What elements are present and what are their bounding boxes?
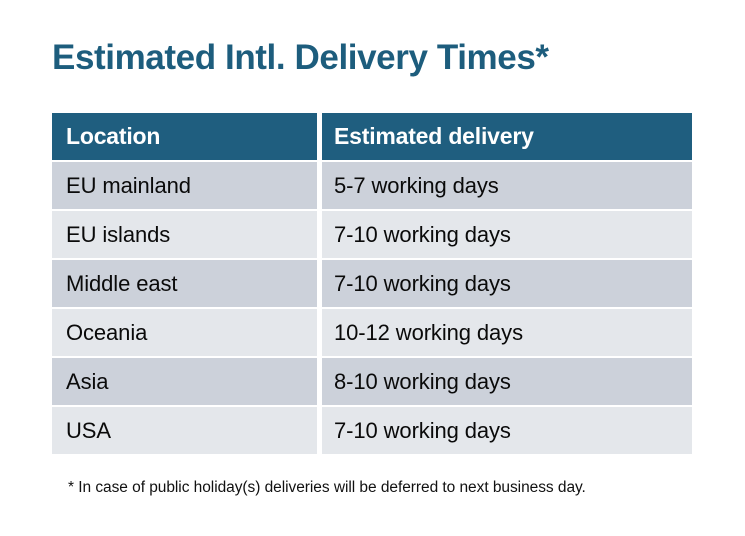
location-value: USA: [66, 418, 111, 444]
table-cell-location: Middle east: [52, 260, 317, 307]
table-cell-location: EU mainland: [52, 162, 317, 209]
footnote-text: * In case of public holiday(s) deliverie…: [68, 479, 586, 497]
table-cell-location: Oceania: [52, 309, 317, 356]
delivery-value: 8-10 working days: [334, 369, 511, 395]
table-cell-delivery: 5-7 working days: [322, 162, 692, 209]
table-row: EU mainland 5-7 working days: [52, 162, 692, 209]
column-header-label-delivery: Estimated delivery: [334, 123, 534, 150]
delivery-times-table: Location Estimated delivery EU mainland …: [52, 113, 692, 456]
table-row: Oceania 10-12 working days: [52, 309, 692, 356]
table-cell-location: EU islands: [52, 211, 317, 258]
location-value: EU islands: [66, 222, 170, 248]
delivery-value: 5-7 working days: [334, 173, 499, 199]
table-cell-delivery: 7-10 working days: [322, 211, 692, 258]
table-header-cell-delivery: Estimated delivery: [322, 113, 692, 160]
table-cell-location: Asia: [52, 358, 317, 405]
table-cell-delivery: 8-10 working days: [322, 358, 692, 405]
table-cell-delivery: 7-10 working days: [322, 407, 692, 454]
table-row: Middle east 7-10 working days: [52, 260, 692, 307]
location-value: EU mainland: [66, 173, 191, 199]
table-row: EU islands 7-10 working days: [52, 211, 692, 258]
table-row: Asia 8-10 working days: [52, 358, 692, 405]
table-header-row: Location Estimated delivery: [52, 113, 692, 160]
location-value: Middle east: [66, 271, 177, 297]
table-cell-delivery: 7-10 working days: [322, 260, 692, 307]
delivery-value: 10-12 working days: [334, 320, 523, 346]
table-header-cell-location: Location: [52, 113, 317, 160]
delivery-value: 7-10 working days: [334, 222, 511, 248]
location-value: Oceania: [66, 320, 147, 346]
location-value: Asia: [66, 369, 108, 395]
delivery-value: 7-10 working days: [334, 271, 511, 297]
delivery-times-page: Estimated Intl. Delivery Times* Location…: [0, 0, 745, 536]
delivery-value: 7-10 working days: [334, 418, 511, 444]
table-cell-delivery: 10-12 working days: [322, 309, 692, 356]
column-header-label-location: Location: [66, 123, 160, 150]
page-title: Estimated Intl. Delivery Times*: [52, 36, 549, 80]
table-row: USA 7-10 working days: [52, 407, 692, 454]
table-cell-location: USA: [52, 407, 317, 454]
